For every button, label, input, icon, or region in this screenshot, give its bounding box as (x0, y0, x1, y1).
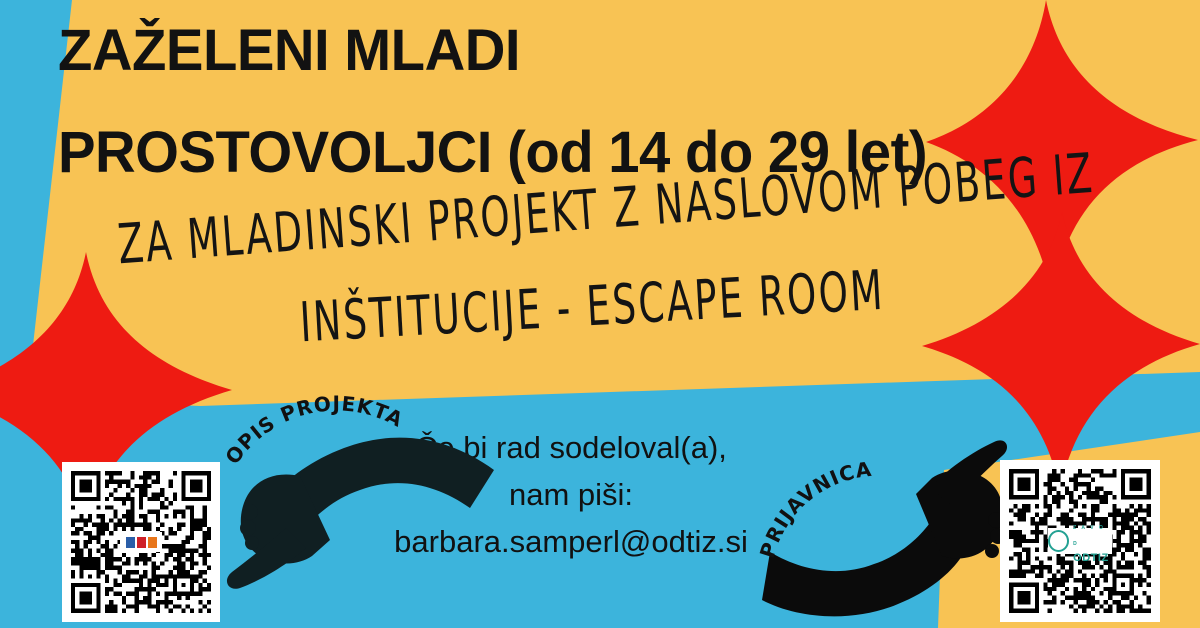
label-prijavnica: PRIJAVNICA (755, 457, 874, 561)
qr-right-center-logo: Z A V O D ODTIZ (1048, 528, 1112, 554)
logo-swatch-2 (137, 537, 146, 548)
qr-code-prijavnica[interactable]: Z A V O D ODTIZ (1000, 460, 1160, 622)
poster-canvas: ZAŽELENI MLADI PROSTOVOLJCI (od 14 do 29… (0, 0, 1200, 628)
qr-code-opis-projekta[interactable] (62, 462, 220, 622)
logo-swatch-3 (148, 537, 157, 548)
logo-swatch-1 (126, 537, 135, 548)
odtiz-wordmark: Z A V O D ODTIZ (1073, 517, 1112, 565)
odtiz-name-text: ODTIZ (1073, 552, 1109, 564)
hand-pointer-right (762, 440, 1007, 616)
hand-pointer-left (227, 438, 494, 589)
odtiz-zavod-text: Z A V O D (1073, 525, 1105, 547)
qr-left-center-logo (120, 532, 162, 552)
odtiz-circle-mark (1048, 530, 1069, 552)
